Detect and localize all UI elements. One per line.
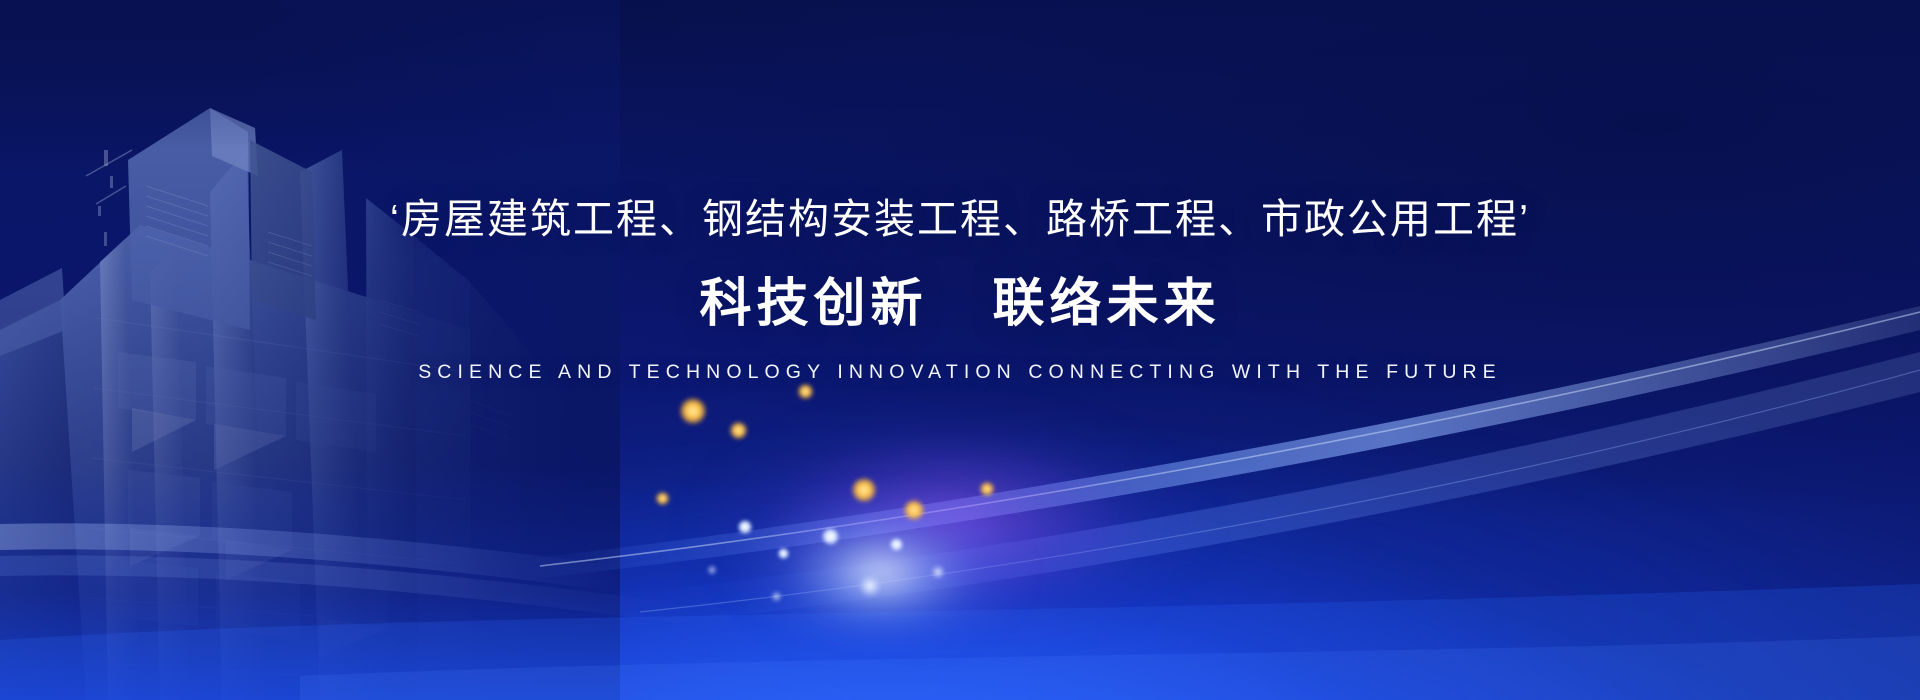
promo-banner: ‘房屋建筑工程、钢结构安装工程、路桥工程、市政公用工程’ 科技创新 联络未来 S… [0,0,1920,700]
headline-slogan-left: 科技创新 [700,275,928,333]
headline-services: ‘房屋建筑工程、钢结构安装工程、路桥工程、市政公用工程’ [390,196,1530,243]
headline-subtitle-english: SCIENCE AND TECHNOLOGY INNOVATION CONNEC… [418,361,1502,384]
headline-slogan-right: 联络未来 [992,275,1220,333]
headline-slogan: 科技创新 联络未来 [700,275,1221,335]
banner-content: ‘房屋建筑工程、钢结构安装工程、路桥工程、市政公用工程’ 科技创新 联络未来 S… [0,0,1920,700]
